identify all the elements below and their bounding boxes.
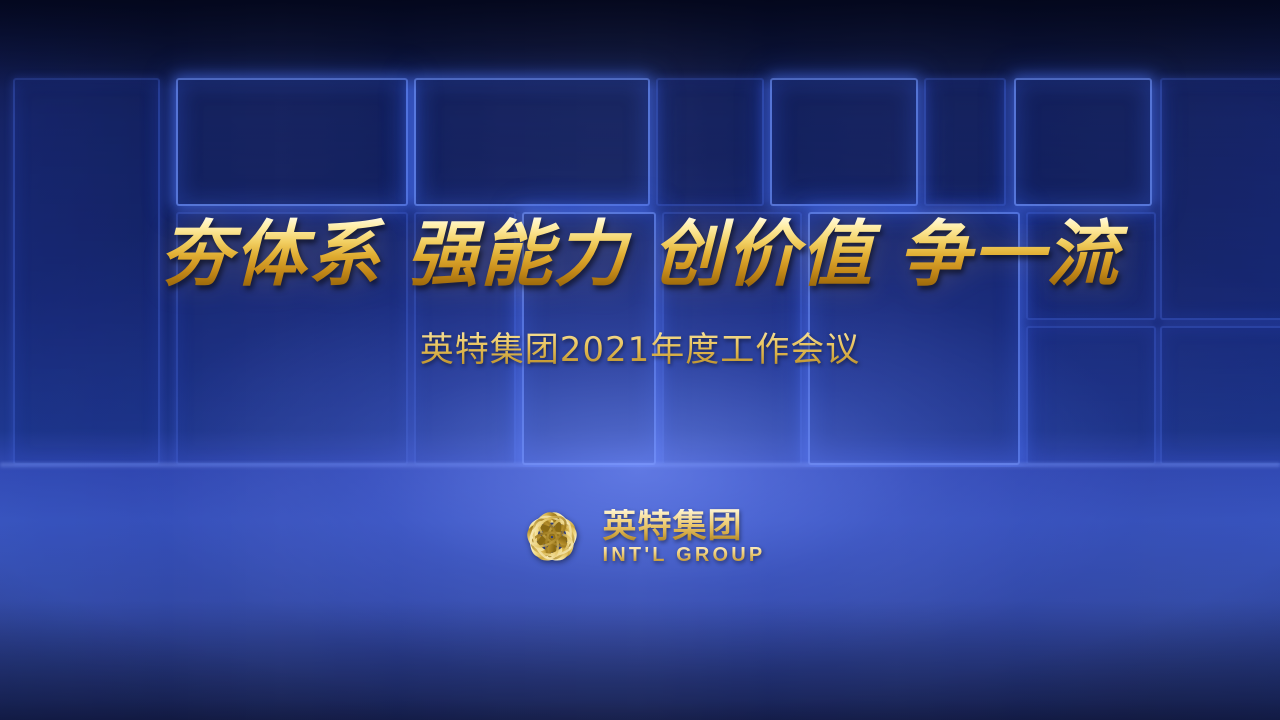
- title-phrase: 夯体系: [160, 212, 382, 296]
- brand-name-en: INT'L GROUP: [603, 545, 766, 565]
- brand-wordmark: 英特集团 INT'L GROUP: [603, 509, 766, 565]
- page-title: 夯体系强能力创价值争一流: [0, 216, 1280, 292]
- title-phrase: 创价值: [652, 212, 874, 296]
- slide-content: 夯体系强能力创价值争一流 英特集团2021年度工作会议: [0, 0, 1280, 720]
- interlocking-knot-emblem-icon: [515, 500, 589, 574]
- brand-name-cn: 英特集团: [603, 509, 766, 543]
- title-slide: 夯体系强能力创价值争一流 英特集团2021年度工作会议: [0, 0, 1280, 720]
- title-phrase: 强能力: [406, 212, 628, 296]
- title-phrase: 争一流: [898, 212, 1120, 296]
- page-subtitle: 英特集团2021年度工作会议: [0, 322, 1280, 371]
- brand-logo-lockup: 英特集团 INT'L GROUP: [0, 500, 1280, 574]
